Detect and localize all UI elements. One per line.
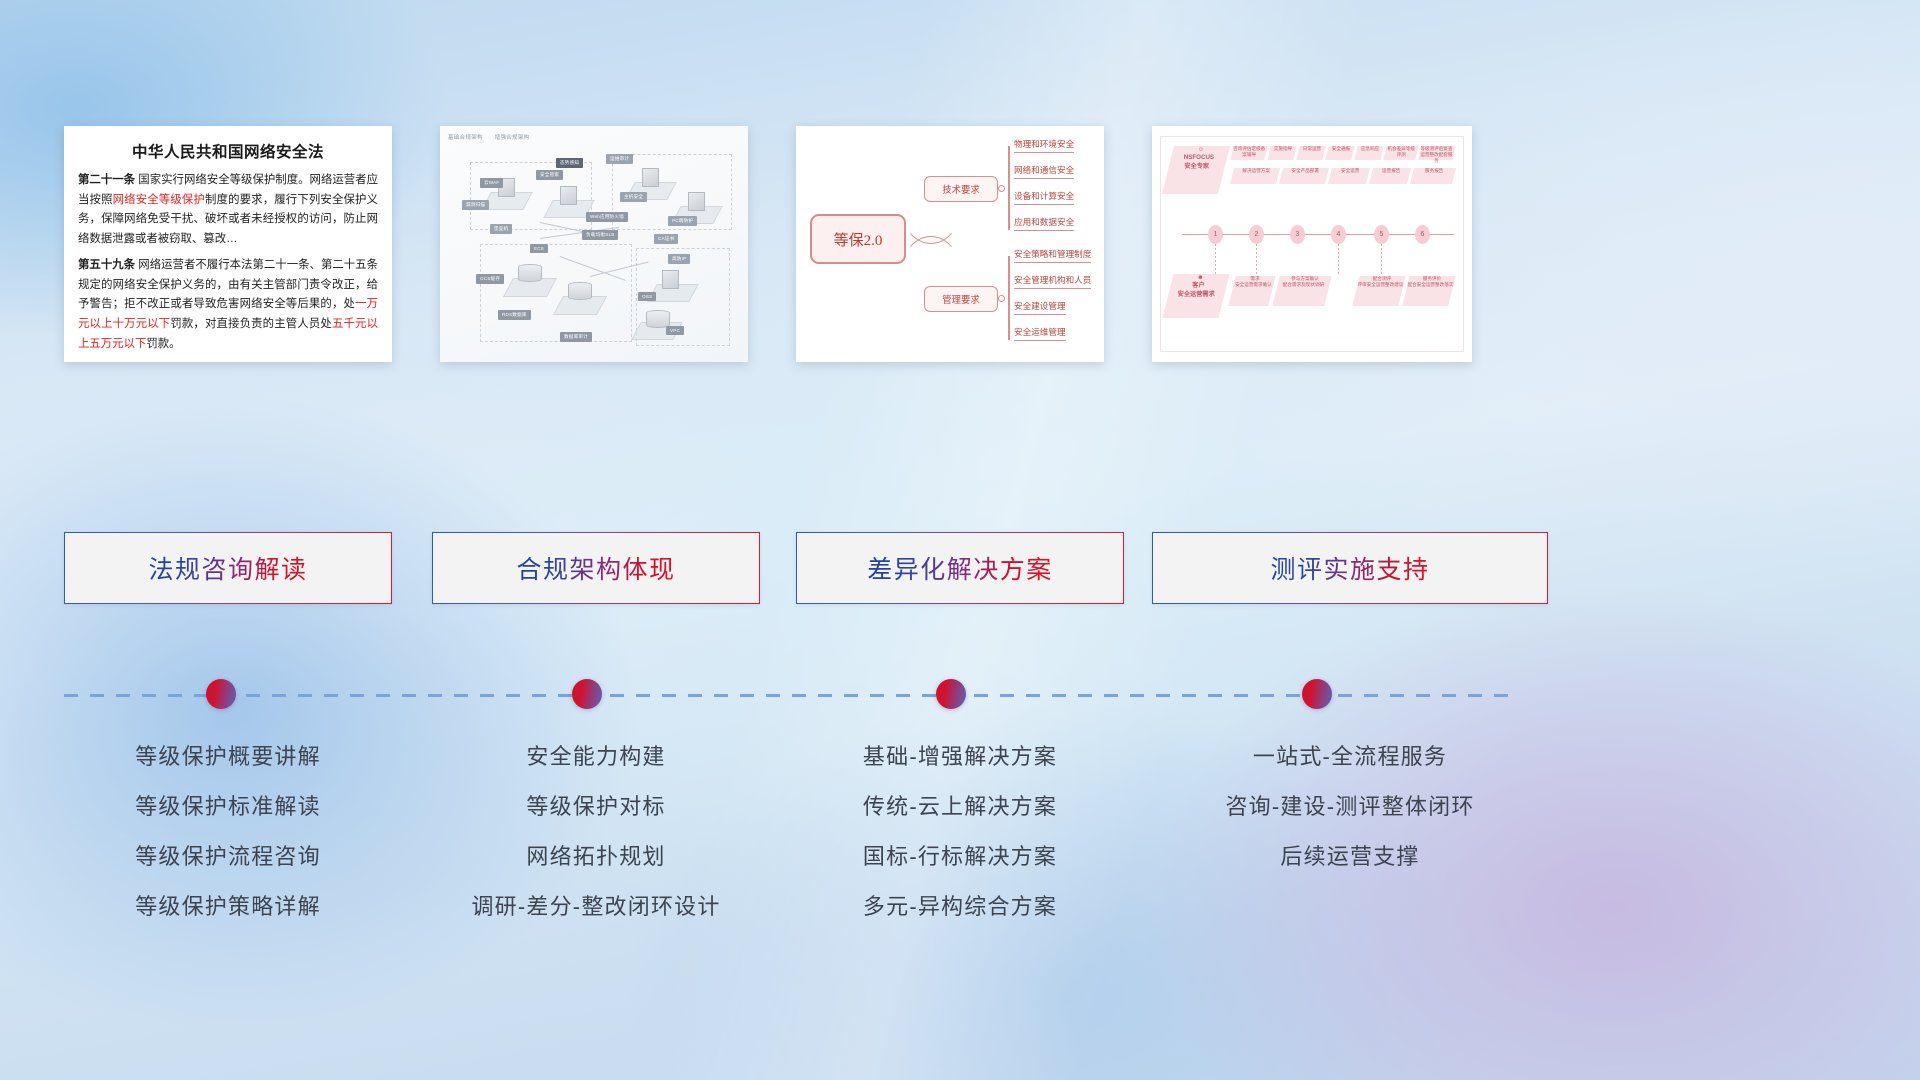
timeline-node-1[interactable]: [206, 679, 236, 709]
timeline-dashed-line: [64, 694, 1512, 697]
top-chevron-label-6: 等级测评后复查运营整改配套服务: [1419, 146, 1453, 165]
arch-node-2: 安全管家: [536, 170, 563, 180]
list-item: 传统-云上解决方案: [796, 796, 1124, 818]
nsfocus-step-1: 1: [1208, 225, 1223, 244]
list-item: 等级保护流程咨询: [64, 846, 392, 868]
list-item: 后续运营支撑: [1152, 846, 1548, 868]
card-cybersecurity-law: 中华人民共和国网络安全法 第二十一条 国家实行网络安全等级保护制度。网络运营者应…: [64, 126, 392, 362]
mindmap-branch-mgmt: 管理要求: [924, 286, 998, 312]
mindmap-dot-mgmt: [998, 295, 1005, 302]
nsfocus-row2-chevron-0: 解决运营方案: [1230, 168, 1280, 184]
law-article-59-text-b: 罚款，对直接负责的主管人员处: [170, 318, 332, 330]
architecture-diagram: 基础合规架构 增强合规架构: [440, 126, 748, 362]
bottom-chevron-sub-2: 评审安全运营整改建议: [1357, 282, 1403, 288]
nsfocus-customer-sub: 安全运营需求: [1168, 291, 1224, 299]
section-items-1: 等级保护概要讲解 等级保护标准解读 等级保护流程咨询 等级保护策略详解: [64, 746, 392, 946]
mindmap-stem-tech: [1008, 146, 1010, 230]
section-items-3: 基础-增强解决方案 传统-云上解决方案 国标-行标解决方案 多元-异构综合方案: [796, 746, 1124, 946]
top-chevron-label-1: 实施指导: [1270, 146, 1296, 152]
mindmap-leaf-m3: 安全运维管理: [1014, 326, 1066, 341]
nsfocus-row2-chevron-4: 服务报告: [1410, 168, 1456, 184]
arch-node-3: 漏洞扫描: [462, 200, 489, 210]
arch-box-5: [662, 270, 679, 289]
section-header-box-1[interactable]: 法规咨询解读: [64, 532, 392, 604]
section-items-4: 一站式-全流程服务 咨询-建设-测评整体闭环 后续运营支撑: [1152, 746, 1548, 896]
list-item: 等级保护概要讲解: [64, 746, 392, 768]
list-item: 国标-行标解决方案: [796, 846, 1124, 868]
arch-node-10: 负载均衡SLB: [582, 230, 618, 240]
nsfocus-step-4: 4: [1331, 225, 1346, 244]
nsfocus-top-chevron-2: 日常运营: [1296, 146, 1325, 160]
arch-node-8: 高防IP: [668, 254, 690, 264]
arch-node-17: 运维审计: [606, 154, 633, 164]
mindmap-diagram: 等保2.0 技术要求 物理和环境安全 网络和通信安全 设备和计算安全 应用和数据…: [796, 126, 1104, 362]
law-article-59-label: 第五十九条: [78, 259, 135, 271]
nsfocus-expert-chevron: ☺ NSFOCUS 安全专家: [1162, 146, 1230, 194]
list-item: 一站式-全流程服务: [1152, 746, 1548, 768]
list-item: 调研-差分-整改闭环设计: [432, 896, 760, 918]
nsfocus-bottom-chevron-3: 服务评价 配合安全运营整改落实: [1402, 276, 1455, 306]
arch-node-6: PC端防护: [668, 216, 697, 226]
nsfocus-bottom-chevron-2: 配合测评 评审安全运营整改建议: [1352, 276, 1405, 306]
card-nsfocus-service-flow: ☺ NSFOCUS 安全专家 咨询评估定级备案辅导 实施指导 日常运营 安全通报…: [1152, 126, 1472, 362]
mindmap-leaf-m1: 安全管理机构和人员: [1014, 274, 1091, 289]
law-article-59: 第五十九条 网络运营者不履行本法第二十一条、第二十五条规定的网络安全保护义务的，…: [78, 256, 378, 355]
row2-label-2: 安全运营: [1331, 168, 1369, 174]
nsfocus-top-chevron-3: 安全通报: [1325, 146, 1354, 160]
bottom-chevron-sub-1: 配合需求及现状调研: [1277, 282, 1329, 288]
arch-node-0: 态势感知: [556, 158, 583, 168]
nsfocus-expert-label: NSFOCUS: [1171, 154, 1227, 162]
list-item: 安全能力构建: [432, 746, 760, 768]
law-article-59-text-c: 罚款。: [146, 338, 180, 350]
nsfocus-connector-2: [1256, 244, 1257, 274]
nsfocus-connector-4: [1338, 244, 1339, 274]
list-item: 网络拓扑规划: [432, 846, 760, 868]
nsfocus-top-chevron-6: 等级测评后复查运营整改配套服务: [1418, 146, 1455, 160]
architecture-tag-1: 增强合规架构: [495, 135, 530, 141]
architecture-tags: 基础合规架构 增强合规架构: [448, 133, 539, 141]
nsfocus-step-5: 5: [1374, 225, 1389, 244]
mindmap-branch-tech: 技术要求: [924, 176, 998, 202]
mindmap-dot-tech: [998, 185, 1005, 192]
law-article-21-label: 第二十一条: [78, 174, 135, 186]
top-chevron-label-0: 咨询评估定级备案辅导: [1232, 146, 1266, 158]
row2-label-3: 运营报告: [1372, 168, 1410, 174]
row2-label-1: 安全产品部署: [1282, 168, 1328, 174]
section-header-box-3[interactable]: 差异化解决方案: [796, 532, 1124, 604]
row2-label-0: 解决运营方案: [1233, 168, 1279, 174]
mindmap-root: 等保2.0: [810, 214, 906, 264]
section-header-box-2[interactable]: 合规架构体现: [432, 532, 760, 604]
arch-node-7: CA证书: [654, 234, 678, 244]
section-items-2: 安全能力构建 等级保护对标 网络拓扑规划 调研-差分-整改闭环设计: [432, 746, 760, 946]
nsfocus-customer-chevron: ☻ 客户 安全运营需求: [1163, 274, 1230, 318]
top-chevron-label-3: 安全通报: [1328, 146, 1354, 152]
nsfocus-bottom-chevron-0: 需求 安全运营需求确认: [1228, 276, 1275, 306]
nsfocus-expert-sub: 安全专家: [1169, 163, 1225, 171]
arch-db-2: [568, 282, 592, 300]
arch-box-3: [642, 168, 659, 187]
nsfocus-diagram: ☺ NSFOCUS 安全专家 咨询评估定级备案辅导 实施指导 日常运营 安全通报…: [1152, 126, 1472, 362]
list-item: 咨询-建设-测评整体闭环: [1152, 796, 1548, 818]
law-title: 中华人民共和国网络安全法: [78, 140, 378, 162]
arch-node-5: 主机安全: [620, 192, 647, 202]
nsfocus-connector-5: [1381, 244, 1382, 274]
card-compliance-architecture: 基础合规架构 增强合规架构: [440, 126, 748, 362]
nsfocus-row2-chevron-2: 安全运营: [1328, 168, 1370, 184]
arch-node-11: ECS: [530, 244, 548, 253]
section-header-label-3: 差异化解决方案: [867, 550, 1053, 586]
arch-group-c: [480, 244, 632, 342]
top-chevron-label-2: 日常运营: [1299, 146, 1325, 152]
nsfocus-connector-1: [1215, 244, 1216, 274]
nsfocus-top-chevron-0: 咨询评估定级备案辅导: [1230, 146, 1267, 160]
mindmap-leaf-t3: 应用和数据安全: [1014, 216, 1074, 231]
list-item: 基础-增强解决方案: [796, 746, 1124, 768]
bottom-chevron-sub-3: 配合安全运营整改落实: [1407, 282, 1453, 288]
nsfocus-row2-chevron-3: 运营报告: [1369, 168, 1411, 184]
nsfocus-step-3: 3: [1290, 225, 1305, 244]
arch-node-16: 数据库审计: [560, 332, 592, 342]
nsfocus-top-chevron-4: 应急响应: [1354, 146, 1383, 160]
arch-node-9: Web应用防火墙: [586, 212, 628, 222]
arch-node-14: OCS缓存: [476, 274, 504, 284]
list-item: 等级保护对标: [432, 796, 760, 818]
arch-node-15: RDS数据库: [498, 310, 531, 320]
arch-node-1: 云WAF: [480, 178, 503, 188]
mindmap-stem-mgmt: [1008, 256, 1010, 340]
nsfocus-step-6: 6: [1415, 225, 1430, 244]
nsfocus-top-chevron-1: 实施指导: [1267, 146, 1296, 160]
nsfocus-top-chevron-5: 机会差异等级评测: [1383, 146, 1418, 160]
timeline-node-2[interactable]: [572, 679, 602, 709]
nsfocus-row2-chevron-1: 安全产品部署: [1279, 168, 1329, 184]
mindmap-leaf-t0: 物理和环境安全: [1014, 138, 1074, 153]
mindmap-leaf-m0: 安全策略和管理制度: [1014, 248, 1091, 263]
law-article-21-highlight: 网络安全等级保护: [113, 194, 205, 206]
section-header-label-2: 合规架构体现: [516, 550, 675, 586]
section-header-label-1: 法规咨询解读: [148, 550, 307, 586]
arch-box-4: [688, 192, 705, 211]
nsfocus-step-2: 2: [1249, 225, 1264, 244]
list-item: 等级保护策略详解: [64, 896, 392, 918]
arch-db-1: [518, 264, 542, 282]
list-item: 多元-异构综合方案: [796, 896, 1124, 918]
card-mindmap-dengbao: 等保2.0 技术要求 物理和环境安全 网络和通信安全 设备和计算安全 应用和数据…: [796, 126, 1104, 362]
list-item: 等级保护标准解读: [64, 796, 392, 818]
timeline-node-3[interactable]: [936, 679, 966, 709]
arch-node-12: OSS: [638, 292, 656, 301]
arch-node-4: 堡垒机: [490, 224, 512, 234]
row2-label-4: 服务报告: [1413, 168, 1455, 174]
mindmap-leaf-t2: 设备和计算安全: [1014, 190, 1074, 205]
mindmap-leaf-m2: 安全建设管理: [1014, 300, 1066, 315]
arch-node-13: VPC: [666, 326, 684, 335]
section-header-label-4: 测评实施支持: [1270, 550, 1429, 586]
top-chevron-label-5: 机会差异等级评测: [1385, 146, 1417, 158]
bottom-chevron-sub-0: 安全运营需求确认: [1233, 282, 1273, 288]
nsfocus-bottom-chevron-1: 参与方案确认 配合需求及现状调研: [1272, 276, 1331, 306]
timeline-node-4[interactable]: [1302, 679, 1332, 709]
top-chevron-label-4: 应急响应: [1357, 146, 1383, 152]
mindmap-leaf-t1: 网络和通信安全: [1014, 164, 1074, 179]
illustration-card-row: 中华人民共和国网络安全法 第二十一条 国家实行网络安全等级保护制度。网络运营者应…: [0, 126, 1920, 362]
nsfocus-customer-label: 客户: [1170, 282, 1226, 290]
law-article-21: 第二十一条 国家实行网络安全等级保护制度。网络运营者应当按照网络安全等级保护制度…: [78, 171, 378, 250]
architecture-tag-0: 基础合规架构: [448, 135, 483, 141]
arch-box-2: [560, 186, 577, 205]
section-header-box-4[interactable]: 测评实施支持: [1152, 532, 1548, 604]
